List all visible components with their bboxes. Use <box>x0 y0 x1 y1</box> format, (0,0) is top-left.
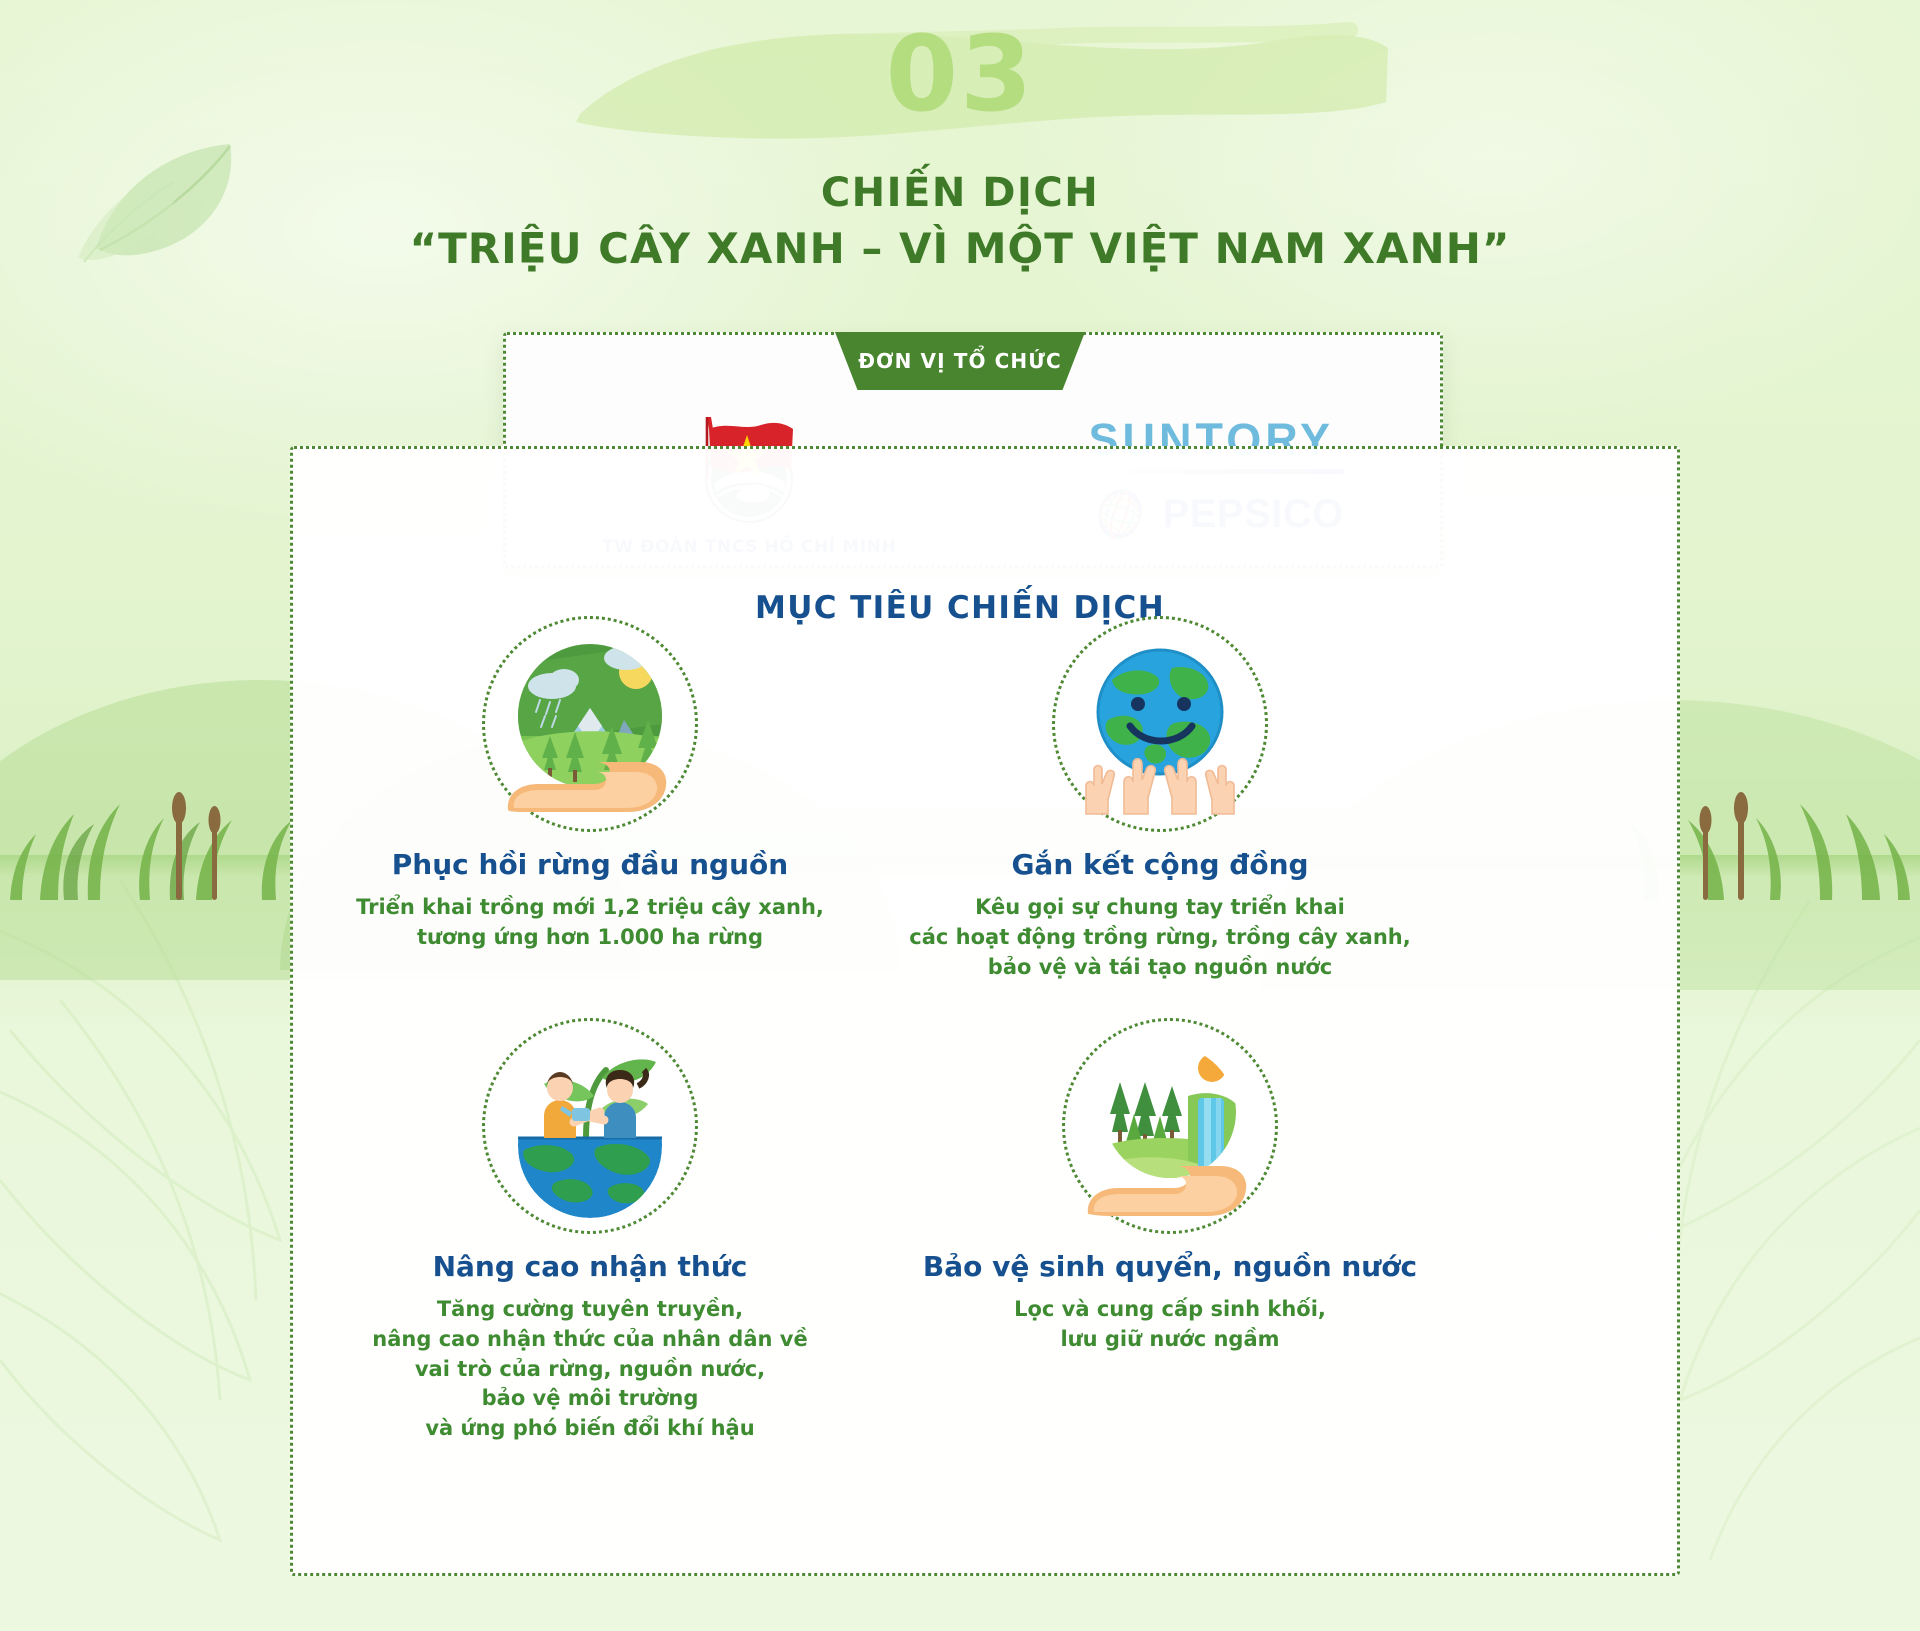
goal-title: Nâng cao nhận thức <box>300 1250 880 1283</box>
goal-card-2: Gắn kết cộng đồng Kêu gọi sự chung tay t… <box>880 616 1440 982</box>
section-number: 03 <box>0 22 1920 126</box>
waterfall-forest-hand-icon <box>1062 1018 1278 1234</box>
smiling-earth-hands-icon <box>1052 616 1268 832</box>
goal-body: Triển khai trồng mới 1,2 triệu cây xanh,… <box>310 893 870 953</box>
goal-card-3: Nâng cao nhận thức Tăng cường tuyên truy… <box>300 1018 880 1444</box>
infographic-page: 03 CHIẾN DỊCH “TRIỆU CÂY XANH – VÌ MỘT V… <box>0 0 1920 1631</box>
goal-body: Tăng cường tuyên truyền, nâng cao nhận t… <box>300 1295 880 1444</box>
goal-title: Bảo vệ sinh quyển, nguồn nước <box>880 1250 1460 1283</box>
children-planting-earth-icon <box>482 1018 698 1234</box>
organizer-tab: ĐƠN VỊ TỔ CHỨC <box>835 332 1085 390</box>
goal-card-4: Bảo vệ sinh quyển, nguồn nước Lọc và cun… <box>880 1018 1460 1355</box>
forest-in-hand-icon <box>482 616 698 832</box>
organizer-tab-label: ĐƠN VỊ TỔ CHỨC <box>858 349 1062 373</box>
goal-card-1: Phục hồi rừng đầu nguồn Triển khai trồng… <box>310 616 870 953</box>
goal-body: Kêu gọi sự chung tay triển khai các hoạt… <box>880 893 1440 982</box>
header-line-2: “TRIỆU CÂY XANH – VÌ MỘT VIỆT NAM XANH” <box>0 224 1920 273</box>
goal-title: Phục hồi rừng đầu nguồn <box>310 848 870 881</box>
header-line-1: CHIẾN DỊCH <box>0 170 1920 216</box>
goal-body: Lọc và cung cấp sinh khối, lưu giữ nước … <box>880 1295 1460 1355</box>
goal-title: Gắn kết cộng đồng <box>880 848 1440 881</box>
